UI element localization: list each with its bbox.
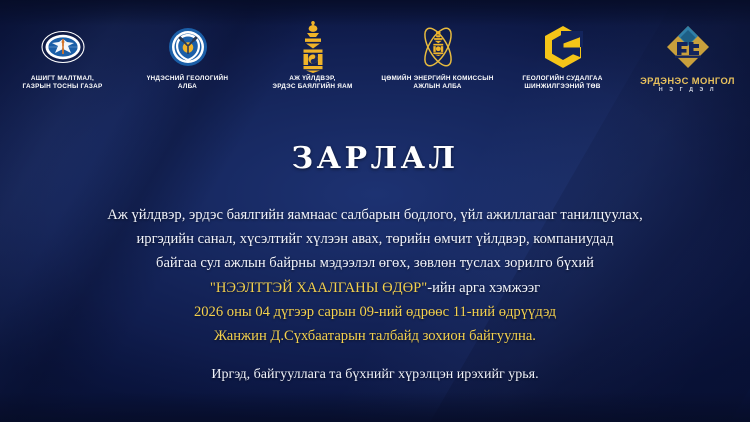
logo-item-center-of-geological-survey: ГЕОЛОГИЙН СУДАЛГАА ШИНЖИЛГЭЭНИЙ ТӨВ: [500, 24, 625, 92]
logo-caption: АШИГТ МАЛТМАЛ, ГАЗРЫН ТОСНЫ ГАЗАР: [23, 75, 103, 92]
logo-item-mineral-resources-petroleum-authority: АШИГТ МАЛТМАЛ, ГАЗРЫН ТОСНЫ ГАЗАР: [0, 24, 125, 92]
announcement-poster: АШИГТ МАЛТМАЛ, ГАЗРЫН ТОСНЫ ГАЗАР ҮНДЭСН…: [0, 0, 750, 422]
circular-shield-emblem-icon: [168, 24, 208, 70]
event-name-suffix: -ийн арга хэмжээг: [427, 280, 540, 296]
logo-caption: ҮНДЭСНИЙ ГЕОЛОГИЙН АЛБА: [147, 75, 229, 92]
announcement-body: Аж үйлдвэр, эрдэс баялгийн яамнаас салба…: [40, 203, 710, 348]
logo-caption: АЖ ҮЙЛДВЭР, ЭРДЭС БАЯЛГИЙН ЯАМ: [272, 75, 352, 92]
body-line-1: Аж үйлдвэр, эрдэс баялгийн яамнаас салба…: [40, 203, 710, 227]
logo-caption: ГЕОЛОГИЙН СУДАЛГАА ШИНЖИЛГЭЭНИЙ ТӨВ: [522, 75, 602, 92]
logo-subcaption: Н Э Г Д Э Л: [659, 87, 716, 93]
body-line-3: байгаа сул ажлын байрны мэдээлэл өгөх, з…: [40, 251, 710, 275]
body-line-4: "НЭЭЛТТЭЙ ХААЛГАНЫ ӨДӨР"-ийн арга хэмжээ…: [40, 276, 710, 300]
circular-emblem-icon: [41, 24, 85, 70]
logo-item-erdenes-mongol: ЭРДЭНЭС МОНГОЛ Н Э Г Д Э Л: [625, 24, 750, 93]
page-title: ЗАРЛАЛ: [0, 141, 750, 176]
atom-soyombo-icon: [415, 24, 461, 70]
logo-item-nuclear-energy-commission-office: ЦӨМИЙН ЭНЕРГИЙН КОМИССЫН АЖЛЫН АЛБА: [375, 24, 500, 92]
event-location-line: Жанжин Д.Сүхбаатарын талбайд зохион байг…: [40, 324, 710, 348]
closing-invitation: Иргэд, байгууллага та бүхнийг хүрэлцэн и…: [0, 367, 750, 383]
hexagon-c-icon: [542, 24, 584, 70]
organization-logo-strip: АШИГТ МАЛТМАЛ, ГАЗРЫН ТОСНЫ ГАЗАР ҮНДЭСН…: [0, 24, 750, 93]
logo-item-ministry-of-industry-mineral-resources: АЖ ҮЙЛДВЭР, ЭРДЭС БАЯЛГИЙН ЯАМ: [250, 24, 375, 92]
event-name-highlight: "НЭЭЛТТЭЙ ХААЛГАНЫ ӨДӨР": [210, 280, 427, 296]
event-date-line: 2026 оны 04 дүгээр сарын 09-ний өдрөөс 1…: [40, 300, 710, 324]
logo-item-national-geological-survey: ҮНДЭСНИЙ ГЕОЛОГИЙН АЛБА: [125, 24, 250, 92]
logo-caption: ЦӨМИЙН ЭНЕРГИЙН КОМИССЫН АЖЛЫН АЛБА: [381, 75, 493, 92]
body-line-2: иргэдийн санал, хүсэлтийг хүлээн авах, т…: [40, 227, 710, 251]
logo-caption: ЭРДЭНЭС МОНГОЛ: [640, 75, 735, 86]
gold-diamond-icon: [665, 24, 711, 70]
soyombo-icon: [299, 24, 327, 70]
